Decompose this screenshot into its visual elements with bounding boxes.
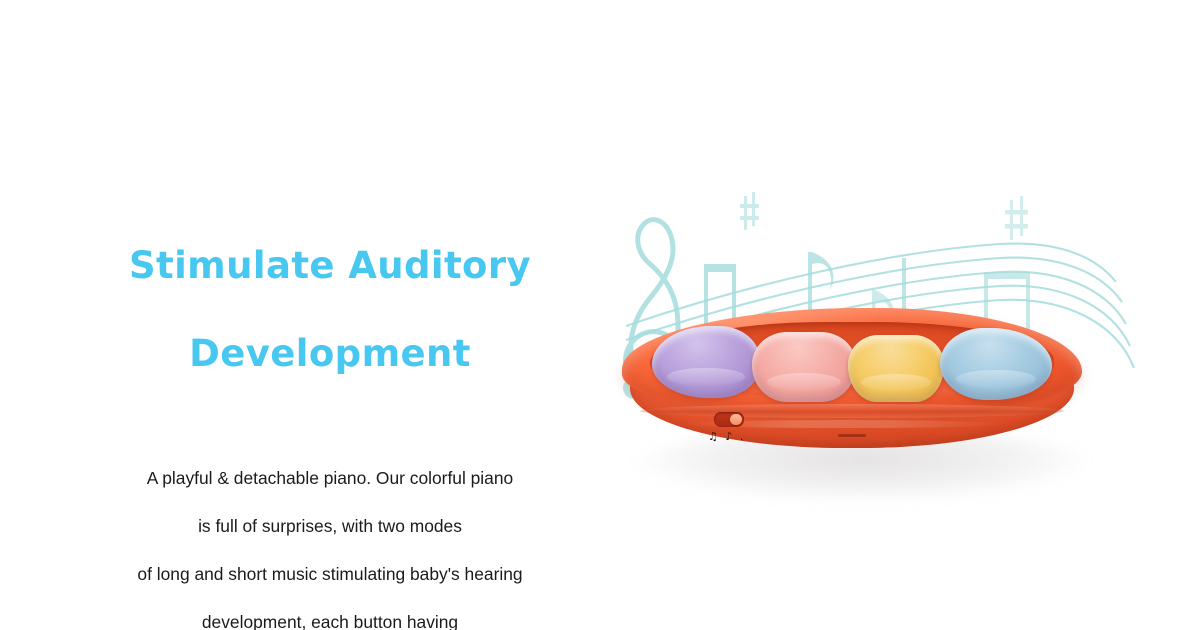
description-text: A playful & detachable piano. Our colorf… (60, 442, 600, 630)
piano-key-pink[interactable] (752, 332, 856, 402)
copy-block: Stimulate Auditory Development A playful… (60, 200, 600, 630)
description-line-2: is full of surprises, with two modes (60, 514, 600, 538)
headline-line-1: Stimulate Auditory (60, 244, 600, 288)
piano-key-purple[interactable] (652, 326, 760, 398)
piano-keys (652, 320, 1054, 404)
toy-piano: ♫ ♪ . (622, 308, 1082, 468)
product-image: ♫ ♪ . (580, 140, 1140, 540)
sharp-sign-icon-2 (1005, 196, 1028, 240)
speaker-slot (838, 434, 866, 437)
description-line-4: development, each button having (60, 610, 600, 630)
page-title: Stimulate Auditory Development (60, 200, 600, 420)
piano-key-blue[interactable] (940, 328, 1052, 400)
sharp-sign-icon (740, 192, 759, 230)
piano-key-yellow[interactable] (848, 335, 944, 402)
mode-switch-labels: ♫ ♪ . (708, 430, 762, 446)
headline-line-2: Development (60, 332, 600, 376)
mode-slider-switch[interactable] (714, 412, 744, 427)
slider-knob[interactable] (730, 414, 742, 425)
description-line-3: of long and short music stimulating baby… (60, 562, 600, 586)
piano-seam (640, 404, 1064, 418)
description-line-1: A playful & detachable piano. Our colorf… (60, 466, 600, 490)
promo-banner: Stimulate Auditory Development A playful… (0, 0, 1200, 630)
